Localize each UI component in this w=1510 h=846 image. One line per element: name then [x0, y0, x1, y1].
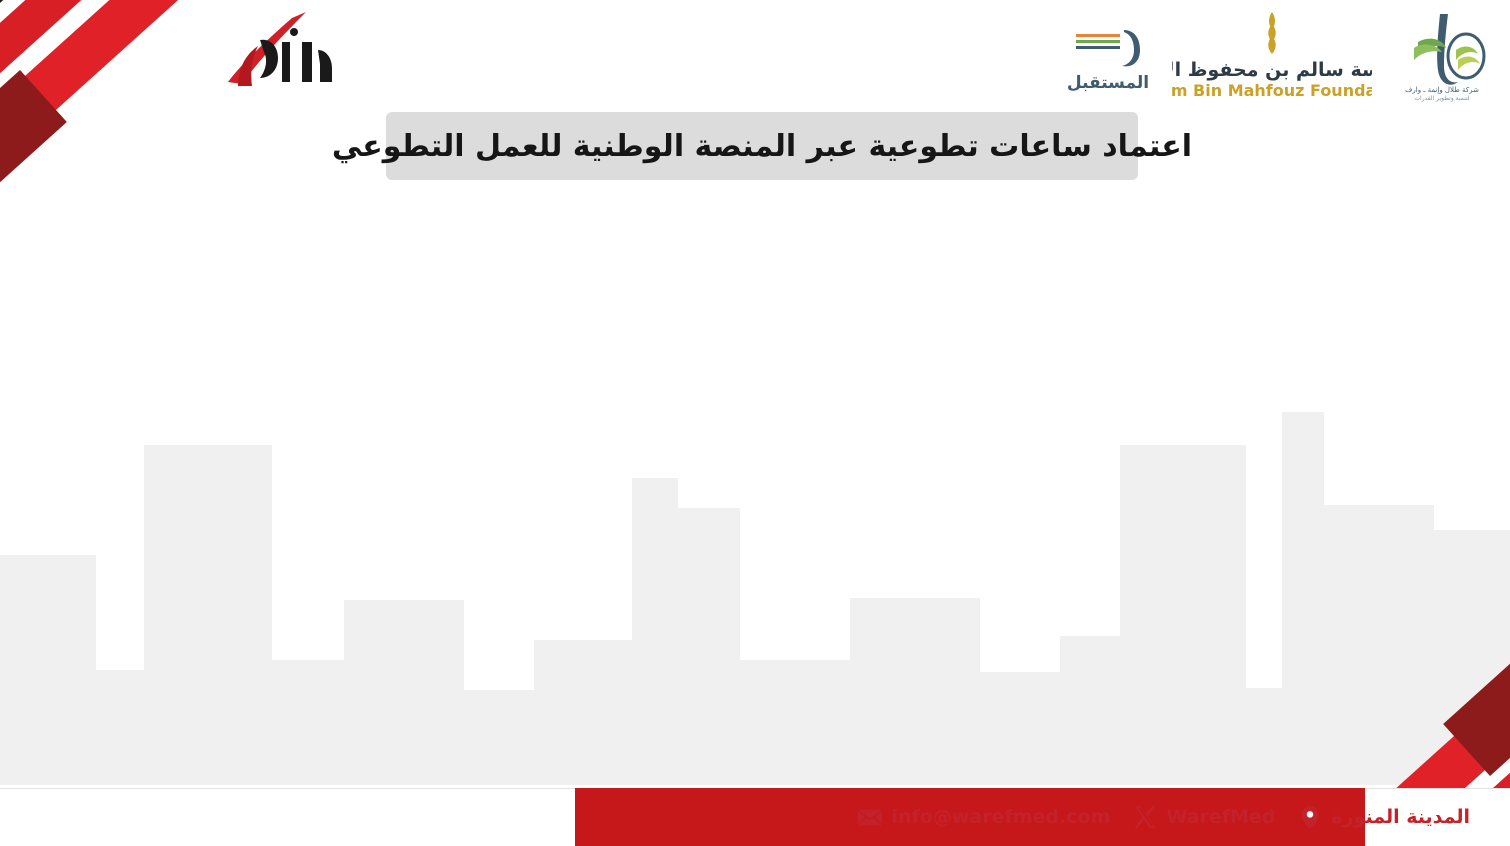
- footer-location-text: المدينة المنورة: [1331, 806, 1470, 828]
- footer-location: المدينة المنورة: [1297, 804, 1470, 830]
- svg-text:المستقبل: المستقبل: [1067, 73, 1149, 93]
- footer-social-handle: WarefMed: [1166, 806, 1275, 828]
- kazma-brand-logo: [220, 6, 350, 102]
- partner-logo-waref: شركة طلال وإنمة ـ وارف لتنمية وتطوير الق…: [1388, 8, 1496, 104]
- footer-email[interactable]: info@warefmed.com: [857, 804, 1110, 830]
- svg-text:Salem Bin Mahfouz Foundation: Salem Bin Mahfouz Foundation: [1172, 81, 1372, 100]
- page-title: اعتماد ساعات تطوعية عبر المنصة الوطنية ل…: [386, 112, 1138, 180]
- svg-text:مؤسسة سالم بن محفوظ الأهلية: مؤسسة سالم بن محفوظ الأهلية: [1172, 58, 1372, 81]
- footer-email-text: info@warefmed.com: [891, 806, 1110, 828]
- footer-contact-info: المدينة المنورة WarefMed info@waref: [857, 788, 1470, 846]
- infographic-canvas: شركة طلال وإنمة ـ وارف لتنمية وتطوير الق…: [0, 0, 1510, 846]
- partner-logo-salem-bin-mahfouz: مؤسسة سالم بن محفوظ الأهلية Salem Bin Ma…: [1172, 8, 1372, 104]
- partner-logos: شركة طلال وإنمة ـ وارف لتنمية وتطوير الق…: [1060, 8, 1496, 104]
- corner-decoration-top-left: [0, 0, 420, 230]
- page-title-text: اعتماد ساعات تطوعية عبر المنصة الوطنية ل…: [332, 129, 1192, 164]
- map-pin-icon: [1297, 804, 1323, 830]
- svg-text:شركة طلال وإنمة ـ وارف: شركة طلال وإنمة ـ وارف: [1405, 86, 1479, 94]
- x-twitter-icon[interactable]: [1132, 804, 1158, 830]
- partner-logo-maharat-almustaqbal: المستقبل: [1060, 8, 1156, 104]
- envelope-icon[interactable]: [857, 804, 883, 830]
- svg-text:لتنمية وتطوير القدرات: لتنمية وتطوير القدرات: [1414, 95, 1469, 102]
- footer-social[interactable]: WarefMed: [1132, 804, 1275, 830]
- footer-bar: المدينة المنورة WarefMed info@waref: [0, 788, 1510, 846]
